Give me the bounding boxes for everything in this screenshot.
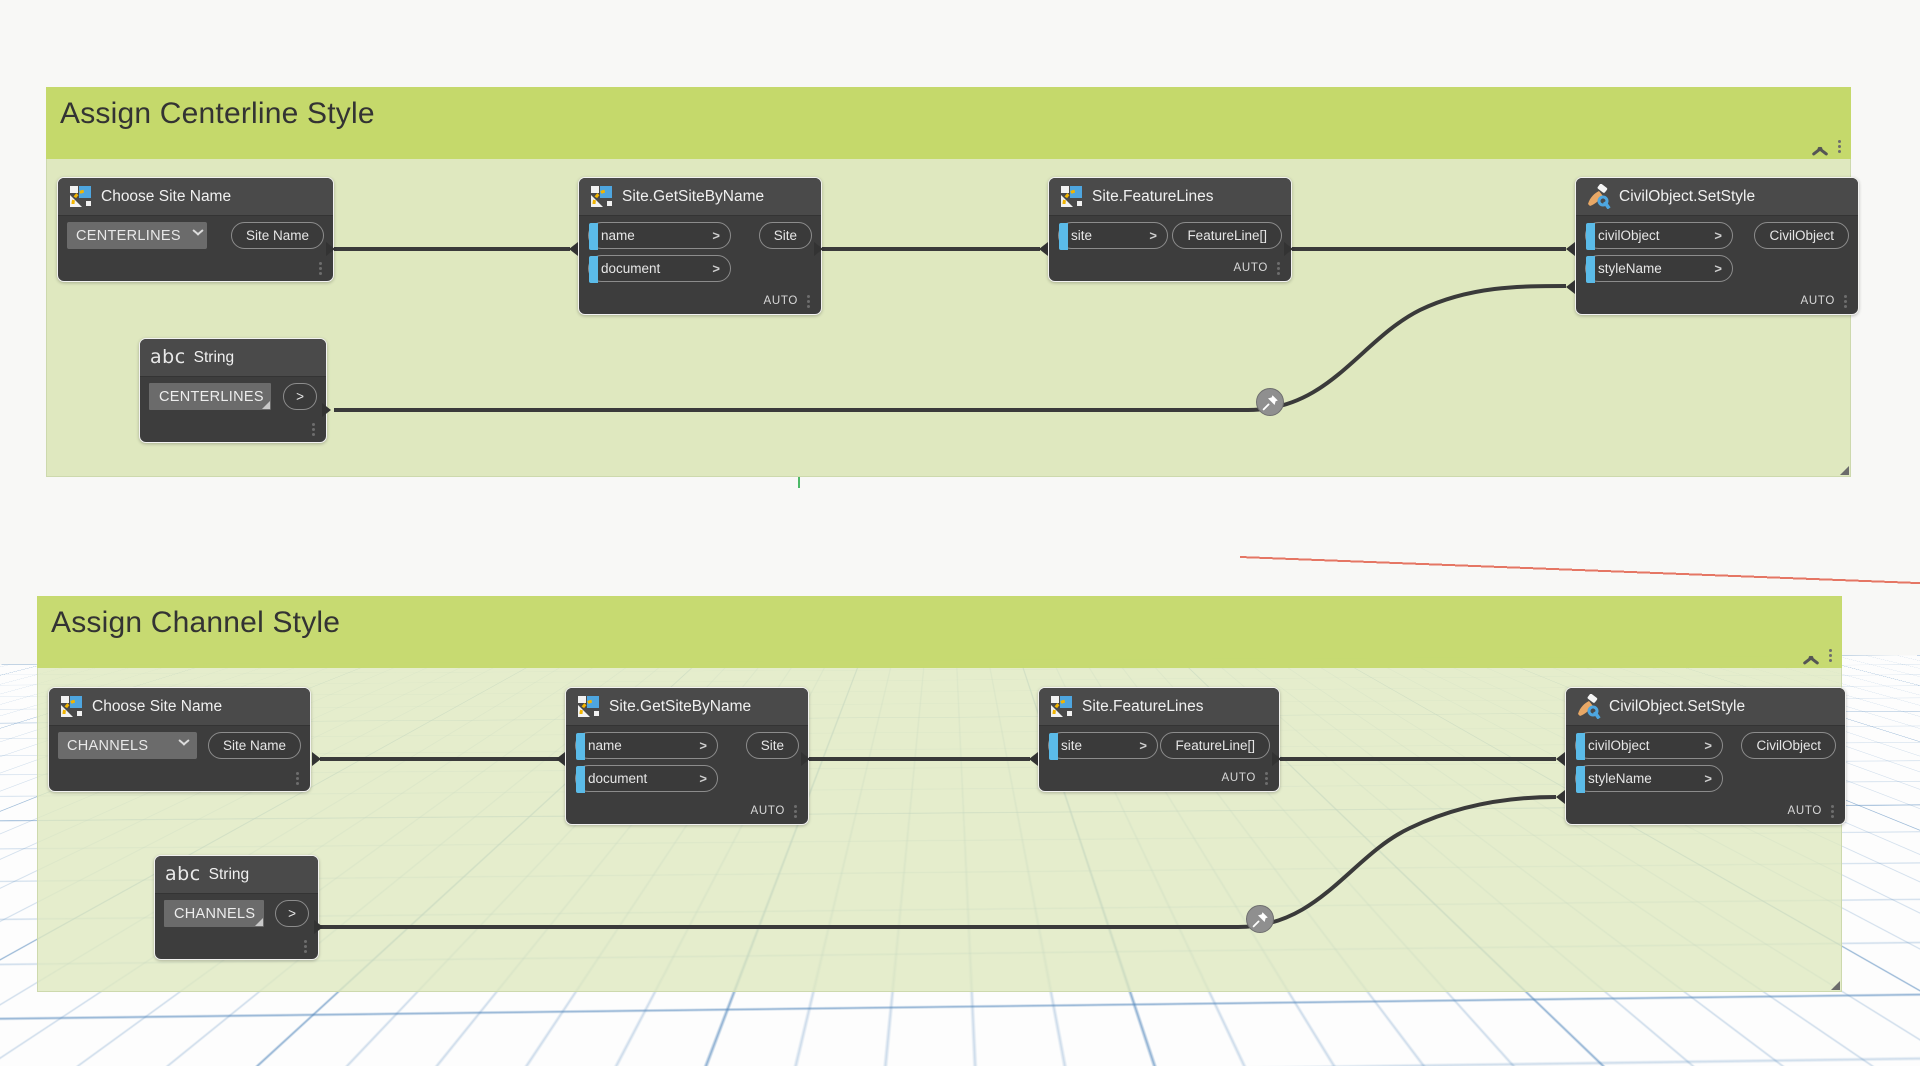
node-header[interactable]: Site.FeatureLines	[1039, 688, 1279, 726]
paintbrush-wrench-icon	[1576, 694, 1601, 719]
node-string[interactable]: abc String CHANNELS >	[154, 855, 319, 960]
node-header[interactable]: CivilObject.SetStyle	[1576, 178, 1858, 216]
connector-endpoint	[569, 242, 578, 256]
three-dots-icon[interactable]	[312, 423, 315, 436]
output-port-site[interactable]: Site	[759, 222, 812, 249]
port-label: name	[588, 738, 689, 753]
wire-pushpin-icon[interactable]	[1256, 388, 1284, 416]
node-site-feature-lines[interactable]: Site.FeatureLines site > FeatureLine[] A…	[1048, 177, 1292, 282]
string-value-input[interactable]: CHANNELS	[164, 900, 264, 927]
chevron-up-icon[interactable]	[1810, 141, 1830, 153]
node-header[interactable]: Site.FeatureLines	[1049, 178, 1291, 216]
output-port-featureline-array[interactable]: FeatureLine[]	[1160, 732, 1270, 759]
node-title: Site.FeatureLines	[1092, 188, 1214, 206]
dynamo-canvas[interactable]: Assign Centerline Style Choose Site Name	[0, 0, 1920, 1066]
connector-endpoint	[1566, 242, 1575, 256]
node-footer: AUTO	[1576, 288, 1858, 314]
node-string[interactable]: abc String CENTERLINES >	[139, 338, 327, 443]
port-row: civilObject > CivilObject	[1566, 732, 1845, 759]
node-footer	[155, 933, 318, 959]
civil-site-icon	[1049, 694, 1074, 719]
output-port-featureline-array[interactable]: FeatureLine[]	[1172, 222, 1282, 249]
port-label: civilObject	[1588, 738, 1694, 753]
port-connected-indicator	[1049, 733, 1058, 760]
port-label: styleName	[1588, 771, 1694, 786]
civil-site-icon	[589, 184, 614, 209]
node-body: civilObject > CivilObject styleName > AU…	[1576, 216, 1858, 314]
run-mode-label: AUTO	[1233, 262, 1268, 274]
port-expand-chevron-icon[interactable]: >	[1704, 738, 1712, 753]
run-mode-label: AUTO	[750, 805, 785, 817]
run-mode-label: AUTO	[1787, 805, 1822, 817]
node-header[interactable]: Choose Site Name	[58, 178, 333, 216]
port-expand-chevron-icon[interactable]: >	[1714, 228, 1722, 243]
connector-endpoint	[1566, 280, 1575, 294]
textbox-resize-grip[interactable]	[255, 918, 263, 926]
chevron-down-icon[interactable]	[191, 230, 199, 242]
port-row: name > Site	[579, 222, 821, 249]
output-port-site-name[interactable]: Site Name	[231, 222, 324, 249]
chevron-down-icon[interactable]	[177, 740, 189, 752]
port-label: document	[588, 771, 689, 786]
node-title: CivilObject.SetStyle	[1609, 698, 1745, 716]
port-row: name > Site	[566, 732, 808, 759]
civil-site-icon	[59, 694, 84, 719]
port-expand-chevron-icon[interactable]: >	[1704, 771, 1712, 786]
port-connected-indicator	[589, 223, 598, 250]
civil-site-icon	[68, 184, 93, 209]
three-dots-icon[interactable]	[1277, 262, 1280, 275]
three-dots-icon[interactable]	[1844, 295, 1847, 308]
node-header[interactable]: CivilObject.SetStyle	[1566, 688, 1845, 726]
port-connected-indicator	[589, 256, 598, 283]
port-expand-chevron-icon[interactable]: >	[699, 738, 707, 753]
node-body: name > Site document > AUTO	[579, 216, 821, 314]
paintbrush-wrench-icon	[1586, 184, 1611, 209]
port-connected-indicator	[1576, 766, 1585, 793]
input-port-stylename[interactable]: styleName >	[1585, 255, 1733, 282]
group-header[interactable]: Assign Centerline Style	[46, 87, 1851, 159]
site-name-dropdown[interactable]: CHANNELS	[58, 732, 197, 759]
three-dots-icon[interactable]	[794, 805, 797, 818]
string-value-input[interactable]: CENTERLINES	[149, 383, 271, 410]
input-port-stylename[interactable]: styleName >	[1575, 765, 1723, 792]
input-port-civilobject[interactable]: civilObject >	[1575, 732, 1723, 759]
connector-endpoint	[1029, 752, 1038, 766]
run-mode-label: AUTO	[1800, 295, 1835, 307]
connector-endpoint	[1556, 790, 1565, 804]
port-row: styleName >	[1576, 255, 1858, 282]
port-label: document	[601, 261, 702, 276]
node-footer	[58, 255, 333, 281]
node-footer	[49, 765, 310, 791]
port-label: site	[1061, 738, 1129, 753]
node-header[interactable]: Site.GetSiteByName	[579, 178, 821, 216]
dropdown-value: CHANNELS	[67, 738, 148, 754]
civil-site-icon	[1059, 184, 1084, 209]
node-title: Site.FeatureLines	[1082, 698, 1204, 716]
node-title: String	[194, 349, 235, 367]
connector-endpoint	[1039, 242, 1048, 256]
port-connected-indicator	[576, 733, 585, 760]
node-title: Site.GetSiteByName	[622, 188, 764, 206]
node-header[interactable]: Choose Site Name	[49, 688, 310, 726]
node-header[interactable]: Site.GetSiteByName	[566, 688, 808, 726]
dropdown-value: CENTERLINES	[76, 228, 181, 244]
three-dots-icon[interactable]	[1829, 649, 1832, 662]
three-dots-icon[interactable]	[296, 772, 299, 785]
node-title: CivilObject.SetStyle	[1619, 188, 1755, 206]
port-expand-chevron-icon[interactable]: >	[1139, 738, 1147, 753]
node-civilobject-setstyle[interactable]: CivilObject.SetStyle civilObject > Civil…	[1575, 177, 1859, 315]
port-label: name	[601, 228, 702, 243]
connector-endpoint	[1556, 752, 1565, 766]
port-label: civilObject	[1598, 228, 1704, 243]
node-title: String	[209, 866, 250, 884]
node-title: Choose Site Name	[92, 698, 222, 716]
connector-endpoint	[1284, 242, 1293, 256]
output-port-civilobject[interactable]: CivilObject	[1741, 732, 1836, 759]
port-row: site > FeatureLine[]	[1049, 222, 1291, 249]
node-footer: AUTO	[1039, 765, 1279, 791]
port-connected-indicator	[1586, 256, 1595, 283]
connector-endpoint	[314, 920, 323, 934]
port-expand-chevron-icon[interactable]: >	[1714, 261, 1722, 276]
input-port-name[interactable]: name >	[575, 732, 718, 759]
port-expand-chevron-icon[interactable]: >	[712, 228, 720, 243]
port-expand-chevron-icon[interactable]: >	[712, 261, 720, 276]
output-port-site[interactable]: Site	[746, 732, 799, 759]
port-connected-indicator	[576, 766, 585, 793]
wire-pushpin-icon[interactable]	[1246, 905, 1274, 933]
node-title: Site.GetSiteByName	[609, 698, 751, 716]
pushpin-glyph	[1262, 394, 1279, 411]
node-body: site > FeatureLine[] AUTO	[1049, 216, 1291, 281]
pushpin-glyph	[1252, 911, 1269, 928]
port-row: CENTERLINES Site Name	[58, 222, 333, 249]
node-body: name > Site document > AUTO	[566, 726, 808, 824]
port-row: document >	[566, 765, 808, 792]
node-footer: AUTO	[1566, 798, 1845, 824]
resize-handle-icon[interactable]	[1840, 466, 1849, 475]
node-title: Choose Site Name	[101, 188, 231, 206]
node-header[interactable]: abc String	[155, 856, 318, 894]
port-row: styleName >	[1566, 765, 1845, 792]
input-port-site[interactable]: site >	[1058, 222, 1168, 249]
port-row: CENTERLINES >	[140, 383, 326, 410]
three-dots-icon[interactable]	[807, 295, 810, 308]
port-row: CHANNELS Site Name	[49, 732, 310, 759]
port-row: civilObject > CivilObject	[1576, 222, 1858, 249]
three-dots-icon[interactable]	[1831, 805, 1834, 818]
port-expand-chevron-icon[interactable]: >	[699, 771, 707, 786]
connector-endpoint	[1272, 752, 1281, 766]
port-label: styleName	[1598, 261, 1704, 276]
port-row: CHANNELS >	[155, 900, 318, 927]
civil-site-icon	[576, 694, 601, 719]
resize-handle-icon[interactable]	[1831, 981, 1840, 990]
node-footer	[140, 416, 326, 442]
node-civilobject-setstyle[interactable]: CivilObject.SetStyle civilObject > Civil…	[1565, 687, 1846, 825]
abc-icon: abc	[150, 345, 186, 370]
connector-endpoint	[814, 242, 823, 256]
three-dots-icon[interactable]	[1265, 772, 1268, 785]
port-expand-chevron-icon[interactable]: >	[1149, 228, 1157, 243]
connector-endpoint	[322, 403, 331, 417]
three-dots-icon[interactable]	[319, 262, 322, 275]
textbox-resize-grip[interactable]	[262, 401, 270, 409]
node-site-get-site-by-name[interactable]: Site.GetSiteByName name > Site document …	[565, 687, 809, 825]
run-mode-label: AUTO	[763, 295, 798, 307]
node-site-get-site-by-name[interactable]: Site.GetSiteByName name > Site document …	[578, 177, 822, 315]
node-footer: AUTO	[579, 288, 821, 314]
port-row: document >	[579, 255, 821, 282]
node-body: CENTERLINES Site Name	[58, 216, 333, 281]
string-value: CENTERLINES	[159, 389, 264, 405]
output-port-civilobject[interactable]: CivilObject	[1754, 222, 1849, 249]
site-name-dropdown[interactable]: CENTERLINES	[67, 222, 207, 249]
node-choose-site-name[interactable]: Choose Site Name CENTERLINES Site Name	[57, 177, 334, 282]
three-dots-icon[interactable]	[1838, 140, 1841, 153]
output-port-site-name[interactable]: Site Name	[208, 732, 301, 759]
output-port-string[interactable]: >	[275, 900, 309, 927]
node-site-feature-lines[interactable]: Site.FeatureLines site > FeatureLine[] A…	[1038, 687, 1280, 792]
input-port-civilobject[interactable]: civilObject >	[1585, 222, 1733, 249]
chevron-up-icon[interactable]	[1801, 650, 1821, 662]
three-dots-icon[interactable]	[304, 940, 307, 953]
run-mode-label: AUTO	[1221, 772, 1256, 784]
connector-endpoint	[326, 242, 335, 256]
input-port-document[interactable]: document >	[588, 255, 731, 282]
node-header[interactable]: abc String	[140, 339, 326, 377]
port-connected-indicator	[1586, 223, 1595, 250]
port-row: site > FeatureLine[]	[1039, 732, 1279, 759]
group-header-controls[interactable]	[1801, 649, 1832, 662]
node-footer: AUTO	[1049, 255, 1291, 281]
node-choose-site-name[interactable]: Choose Site Name CHANNELS Site Name	[48, 687, 311, 792]
connector-endpoint	[556, 752, 565, 766]
port-connected-indicator	[1059, 223, 1068, 250]
output-port-string[interactable]: >	[283, 383, 317, 410]
node-footer: AUTO	[566, 798, 808, 824]
port-connected-indicator	[1576, 733, 1585, 760]
connector-endpoint	[312, 752, 321, 766]
node-body: CENTERLINES >	[140, 377, 326, 442]
connector-endpoint	[801, 752, 810, 766]
node-body: site > FeatureLine[] AUTO	[1039, 726, 1279, 791]
node-body: CHANNELS Site Name	[49, 726, 310, 791]
node-body: civilObject > CivilObject styleName > AU…	[1566, 726, 1845, 824]
node-body: CHANNELS >	[155, 894, 318, 959]
string-value: CHANNELS	[174, 906, 255, 922]
abc-icon: abc	[165, 862, 201, 887]
input-port-site[interactable]: site >	[1048, 732, 1158, 759]
input-port-document[interactable]: document >	[575, 765, 718, 792]
input-port-name[interactable]: name >	[588, 222, 731, 249]
group-header-controls[interactable]	[1810, 140, 1841, 153]
group-header[interactable]: Assign Channel Style	[37, 596, 1842, 668]
group-title: Assign Centerline Style	[46, 87, 375, 132]
group-title: Assign Channel Style	[37, 596, 340, 641]
port-label: site	[1071, 228, 1139, 243]
